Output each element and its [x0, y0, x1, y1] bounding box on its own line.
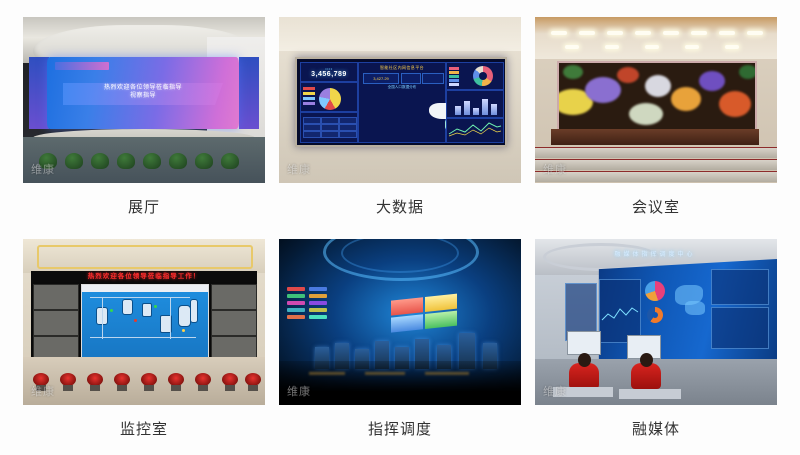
wall-pie-chart [645, 281, 665, 301]
flower-violet [699, 71, 725, 91]
data-table-panel [300, 112, 358, 143]
caption-converged-media: 融媒体 [632, 421, 680, 439]
bar [482, 99, 488, 115]
legend-swatch [303, 87, 315, 90]
wall-text-panel [711, 307, 769, 349]
caption-monitoring-room: 监控室 [120, 421, 168, 439]
legend-swatch [303, 102, 315, 105]
podium-desk [551, 129, 759, 145]
ceiling-light [719, 31, 735, 35]
logo-pane-green [425, 311, 457, 329]
ceiling-light [725, 45, 739, 49]
kpi-value: 3,456,789 [301, 71, 357, 78]
caption-conference-room: 会议室 [632, 199, 680, 217]
operator-monitor [567, 331, 601, 355]
led-welcome-text: 热烈欢迎各位领导莅临指导 视察指导 [47, 84, 239, 100]
scada-hmi-screen [81, 284, 209, 358]
channel-tile [309, 301, 327, 305]
ceiling-light [747, 31, 763, 35]
legend-swatch [449, 79, 459, 82]
bar [491, 104, 497, 115]
data-wall-screen: •••• 3,456,789 [295, 57, 507, 147]
leaf [563, 65, 583, 79]
table-cell [303, 131, 321, 138]
gallery-item-command-dispatch[interactable]: 维康 指挥调度 [278, 239, 522, 455]
logo-pane-red [391, 297, 423, 315]
ceiling [279, 17, 521, 51]
bar [455, 106, 461, 115]
legend-swatch [449, 75, 459, 78]
seating-row [535, 159, 777, 170]
planter [143, 153, 161, 169]
logo-pane-yellow [425, 294, 457, 312]
flower-red [617, 67, 639, 83]
photo-big-data[interactable]: •••• 3,456,789 [279, 17, 521, 183]
watermark: 维康 [31, 161, 55, 177]
status-dot [110, 309, 113, 312]
legend-swatch [449, 83, 459, 86]
camera-feed [211, 284, 257, 310]
logo-pane-blue [391, 314, 423, 332]
map-panel: 智能社区内网信息平台 3,427.29 全国人口数据分布 [358, 62, 446, 143]
channel-tile [309, 294, 327, 298]
ceiling-light [565, 45, 579, 49]
kpi-panel: •••• 3,456,789 [300, 62, 358, 82]
poinsettia-plant [168, 373, 184, 391]
gallery-item-monitoring-room[interactable]: 热烈欢迎各位领导莅临指导工作！ [22, 239, 266, 455]
bar [473, 108, 479, 115]
table-cell [303, 117, 321, 124]
legend-swatch [303, 97, 315, 100]
poinsettia-plant [60, 373, 76, 391]
foreground-shadow [279, 361, 521, 405]
process-pipe [90, 337, 196, 338]
windows-logo [391, 293, 459, 334]
poinsettia-plant [114, 373, 130, 391]
poinsettia-plant [222, 373, 238, 391]
legend-swatch [303, 92, 315, 95]
wall-map [685, 301, 705, 315]
ceiling-light [635, 31, 651, 35]
photo-converged-media[interactable]: 融媒体指挥调度中心 维康 [535, 239, 777, 405]
donut-hole [479, 72, 487, 80]
flower-orange [671, 87, 701, 111]
gallery-item-converged-media[interactable]: 融媒体指挥调度中心 维康 融媒体 [534, 239, 778, 455]
status-dot [134, 319, 137, 322]
channel-tile [309, 315, 327, 319]
wall-title: 融媒体指挥调度中心 [565, 249, 745, 258]
channel-tile [309, 287, 327, 291]
channel-tile-grid [287, 287, 333, 333]
watermark: 维康 [543, 161, 567, 177]
gallery-item-big-data[interactable]: •••• 3,456,789 [278, 17, 522, 233]
table-cell [339, 124, 357, 131]
status-dot [154, 305, 157, 308]
poinsettia-plant [141, 373, 157, 391]
line-panel [446, 118, 504, 143]
channel-tile [287, 287, 305, 291]
led-side-panel-left [29, 57, 49, 129]
process-pipe [170, 297, 171, 339]
led-video-wall: 热烈欢迎各位领导莅临指导 视察指导 [47, 57, 239, 129]
process-vessel [142, 303, 152, 317]
flower-purple [585, 77, 621, 103]
wall-line-chart [600, 302, 640, 326]
wall-text-panel [711, 269, 769, 305]
line-chart [447, 120, 503, 138]
flower-coral [719, 91, 751, 117]
planter [221, 153, 239, 169]
channel-tile [287, 308, 305, 312]
channel-tile [287, 315, 305, 319]
flower-white [645, 75, 671, 97]
pie-panel [300, 82, 358, 112]
ceiling-light [607, 31, 623, 35]
table-cell [321, 124, 339, 131]
gallery-item-conference-room[interactable]: 维康 会议室 [534, 17, 778, 233]
led-welcome-line-1: 热烈欢迎各位领导莅临指导 [47, 84, 239, 92]
donut-hole [652, 312, 658, 318]
seating-row [535, 147, 777, 158]
table-cell [303, 124, 321, 131]
table-cell [321, 131, 339, 138]
poinsettia-plant [195, 373, 211, 391]
weather-widget [401, 73, 421, 84]
hmi-toolbar [82, 285, 208, 292]
caption-big-data: 大数据 [376, 199, 424, 217]
table-cell [321, 117, 339, 124]
camera-feed [33, 310, 79, 336]
wall-panel [599, 279, 641, 343]
table-cell [339, 117, 357, 124]
process-vessel [190, 299, 198, 323]
photo-exhibition-hall[interactable]: 热烈欢迎各位领导莅临指导 视察指导 维康 [23, 17, 265, 183]
pie-chart [319, 88, 341, 110]
table-cell [339, 131, 357, 138]
camera-feed [211, 310, 257, 336]
led-flower-display [557, 61, 757, 133]
planter [169, 153, 187, 169]
photo-conference-room[interactable]: 维康 [535, 17, 777, 183]
channel-tile [287, 294, 305, 298]
watermark: 维康 [287, 161, 311, 177]
ceiling-light [645, 45, 659, 49]
ceiling-light [579, 31, 595, 35]
planter [65, 153, 83, 169]
legend-swatch [449, 71, 459, 74]
image-gallery: 热烈欢迎各位领导莅临指导 视察指导 维康 展厅 • [0, 0, 800, 455]
watermark: 维康 [31, 383, 55, 399]
process-pipe [102, 297, 103, 339]
camera-feed [33, 284, 79, 310]
ceiling-light [605, 45, 619, 49]
caption-exhibition-hall: 展厅 [128, 199, 160, 217]
gallery-item-exhibition-hall[interactable]: 热烈欢迎各位领导莅临指导 视察指导 维康 展厅 [22, 17, 266, 233]
ceiling-light [691, 31, 707, 35]
process-pipe [90, 297, 190, 298]
bar [464, 101, 470, 115]
bar-panel [446, 90, 504, 118]
led-welcome-line-2: 视察指导 [47, 92, 239, 100]
clock-widget: 3,427.29 [363, 73, 399, 84]
wall-donut-chart [647, 307, 663, 323]
caption-command-dispatch: 指挥调度 [368, 421, 432, 439]
ceiling-light [551, 31, 567, 35]
seating-row [535, 171, 777, 182]
watermark: 维康 [287, 383, 311, 399]
channel-tile [309, 308, 327, 312]
map-title: 全国人口数据分布 [359, 85, 445, 90]
donut-chart [473, 66, 493, 86]
led-banner: 热烈欢迎各位领导莅临指导工作！ [31, 271, 257, 282]
camera-feed [33, 336, 79, 358]
donut-panel [446, 62, 504, 90]
camera-feed [211, 336, 257, 358]
planter [195, 153, 213, 169]
cove-light [37, 245, 253, 269]
planter [91, 153, 109, 169]
status-dot [182, 329, 185, 332]
poinsettia-plant [87, 373, 103, 391]
led-side-panel-right [239, 57, 259, 129]
status-widget [422, 73, 444, 84]
channel-tile [287, 301, 305, 305]
photo-command-dispatch[interactable]: 维康 [279, 239, 521, 405]
process-vessel [122, 299, 133, 315]
desk [619, 389, 681, 399]
poinsettia-plant [245, 373, 261, 391]
legend-swatch [449, 67, 459, 70]
dashboard-title: 智能社区内网信息平台 [359, 65, 445, 71]
leaf [739, 65, 757, 79]
ceiling-light [663, 31, 679, 35]
ceiling-light [685, 45, 699, 49]
planter [117, 153, 135, 169]
ceiling [535, 17, 777, 59]
led-banner-text: 热烈欢迎各位领导莅临指导工作！ [31, 271, 257, 282]
watermark: 维康 [543, 383, 567, 399]
led-logo [55, 62, 109, 70]
photo-monitoring-room[interactable]: 热烈欢迎各位领导莅临指导工作！ [23, 239, 265, 405]
flower-pale [629, 103, 663, 125]
